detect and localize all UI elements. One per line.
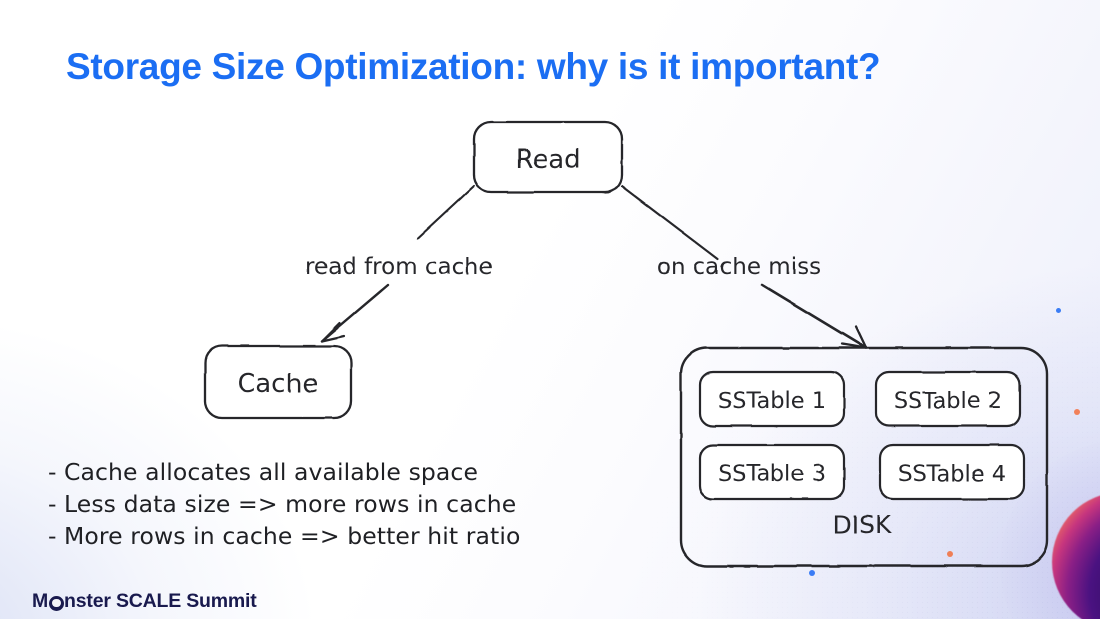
- bullet-text: Cache allocates all available space: [64, 458, 478, 486]
- node-sstable-4-label: SSTable 4: [898, 461, 1006, 487]
- edge-label-read-from-cache: read from cache: [305, 254, 493, 280]
- node-sstable-4[interactable]: SSTable 4: [880, 445, 1024, 499]
- list-item: -Less data size => more rows in cache: [48, 488, 608, 520]
- node-disk[interactable]: SSTable 1 SSTable 2 SSTable 3 SSTable 4 …: [681, 348, 1047, 566]
- node-read-label: Read: [515, 145, 580, 175]
- bullet-dash: -: [48, 488, 64, 520]
- edge-right-upper-segment: [622, 186, 718, 259]
- slide-canvas: Storage Size Optimization: why is it imp…: [0, 0, 1100, 619]
- bullet-dash: -: [48, 520, 64, 552]
- list-item: -Cache allocates all available space: [48, 456, 608, 488]
- node-sstable-2[interactable]: SSTable 2: [876, 372, 1020, 426]
- node-sstable-1[interactable]: SSTable 1: [700, 372, 844, 426]
- node-cache[interactable]: Cache: [205, 346, 351, 418]
- node-sstable-2-label: SSTable 2: [894, 388, 1002, 414]
- node-read[interactable]: Read: [474, 122, 622, 192]
- footer-logo: Mnster SCALE Summit: [32, 590, 257, 613]
- bullet-text: Less data size => more rows in cache: [64, 490, 516, 518]
- orange-dot-right: [1074, 409, 1080, 415]
- edge-left-upper-segment: [418, 186, 474, 238]
- footer-logo-suffix: nster SCALE Summit: [64, 590, 257, 613]
- node-sstable-3-label: SSTable 3: [718, 461, 826, 487]
- bullet-dash: -: [48, 456, 64, 488]
- monster-eye-icon: [49, 596, 64, 611]
- bullet-text: More rows in cache => better hit ratio: [64, 522, 520, 550]
- edge-right-lower-segment: [762, 285, 866, 348]
- bullet-list: -Cache allocates all available space -Le…: [48, 456, 608, 552]
- node-sstable-3[interactable]: SSTable 3: [700, 445, 844, 499]
- edge-label-on-cache-miss: on cache miss: [657, 254, 821, 280]
- node-sstable-1-label: SSTable 1: [718, 388, 826, 414]
- blue-dot-bottom: [809, 570, 815, 576]
- footer-logo-prefix: M: [32, 590, 48, 613]
- node-cache-label: Cache: [238, 369, 319, 399]
- node-disk-label: DISK: [833, 510, 892, 539]
- list-item: -More rows in cache => better hit ratio: [48, 520, 608, 552]
- orange-dot-disk: [947, 551, 953, 557]
- blue-dot-upper-right: [1056, 308, 1061, 313]
